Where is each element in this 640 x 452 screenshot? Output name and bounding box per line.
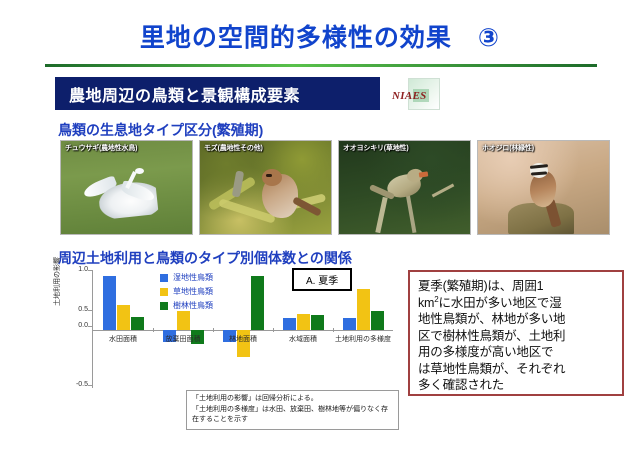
chart-bar	[371, 311, 384, 330]
bird-photo-shrike: モズ(農地性その他)	[199, 140, 332, 235]
slide-canvas: 里地の空間的多様性の効果 ③ 農地周辺の鳥類と景観構成要素 NIAES 鳥類の生…	[0, 0, 640, 452]
section-banner: 農地周辺の鳥類と景観構成要素	[55, 77, 380, 110]
chart-bar	[131, 317, 144, 330]
chart-x-tick	[153, 328, 154, 332]
bird-photo-bunting: ホオジロ(林縁性)	[477, 140, 610, 235]
chart-group-1: 水田面積	[93, 270, 153, 388]
legend-swatch-icon	[160, 302, 168, 310]
shrike-head	[262, 169, 282, 186]
bird-photo-reed-warbler: オオヨシキリ(草地性)	[338, 140, 471, 235]
chart-legend: 湿地性鳥類 草地性鳥類 樹林性鳥類	[160, 272, 213, 314]
callout-km: km	[418, 296, 434, 310]
chart-bar	[357, 289, 370, 330]
chart-bar	[343, 318, 356, 330]
legend-item-grassland: 草地性鳥類	[160, 286, 213, 297]
callout-text: 夏季(繁殖期)は、周囲1 km2に水田が多い地区で湿 地性鳥類が、林地が多い地 …	[418, 278, 614, 394]
shrike-eye-stripe	[266, 174, 272, 177]
chart-x-tick	[213, 328, 214, 332]
callout-line: 地性鳥類が、林地が多い地	[418, 311, 614, 328]
legend-swatch-icon	[160, 274, 168, 282]
niaes-logo: NIAES	[392, 78, 440, 112]
legend-label: 草地性鳥類	[173, 286, 213, 297]
banner-label: 農地周辺の鳥類と景観構成要素	[69, 82, 300, 106]
chart-bar	[117, 305, 130, 330]
legend-item-forest: 樹林性鳥類	[160, 300, 213, 311]
bird-photo-egret: チュウサギ(農地性水鳥)	[60, 140, 193, 235]
chart-group-3: 林地面積	[213, 270, 273, 388]
bird-photo-strip: チュウサギ(農地性水鳥) モズ(農地性その他) オオヨシキリ(草地性)	[60, 140, 622, 235]
photo-caption: オオヨシキリ(草地性)	[343, 143, 408, 153]
chart-heading: 周辺土地利用と鳥類のタイプ別個体数との関係	[58, 248, 352, 268]
bar-chart: 土地利用の影響 1.0 0.5 0.0 -0.5 水田面積放棄田面積林地面積水域…	[56, 266, 401, 394]
photo-caption: ホオジロ(林縁性)	[482, 143, 534, 153]
callout-line: 用の多様度が高い地区で	[418, 344, 614, 361]
callout-line: 夏季(繁殖期)は、周囲1	[418, 278, 614, 295]
callout-line-rest: に水田が多い地区で湿	[439, 296, 562, 310]
chart-y-tick: 0.0	[62, 322, 88, 329]
page-title: 里地の空間的多様性の効果 ③	[0, 18, 640, 54]
legend-label: 樹林性鳥類	[173, 300, 213, 311]
photo-caption: モズ(農地性その他)	[204, 143, 263, 153]
chart-y-tick: 1.0	[62, 266, 88, 273]
chart-note-2: 「土地利用の多様度」は水田、放棄田、樹林地等が偏りなく存在することを示す	[192, 405, 393, 426]
chart-bar	[297, 314, 310, 330]
chart-note-1: 「土地利用の影響」は回帰分析による。	[192, 394, 393, 405]
legend-swatch-icon	[160, 288, 168, 296]
photos-heading: 鳥類の生息地タイプ区分(繁殖期)	[58, 120, 263, 140]
title-divider	[45, 64, 597, 67]
chart-y-tick: -0.5	[62, 381, 88, 388]
callout-line: は草地性鳥類が、それぞれ	[418, 361, 614, 378]
tree-stump	[508, 203, 574, 235]
legend-label: 湿地性鳥類	[173, 272, 213, 283]
chart-bar	[311, 315, 324, 330]
chart-y-tick: 0.5	[62, 306, 88, 313]
chart-y-axis-label: 土地利用の影響	[52, 257, 62, 306]
callout-line: km2に水田が多い地区で湿	[418, 295, 614, 312]
chart-panel-title: A. 夏季	[292, 268, 352, 291]
callout-line: 多く確認された	[418, 377, 614, 394]
chart-bar	[283, 318, 296, 330]
callout-line: 区で樹林性鳥類が、土地利	[418, 328, 614, 345]
chart-bar	[103, 276, 116, 330]
legend-item-wetland: 湿地性鳥類	[160, 272, 213, 283]
egret-head	[135, 168, 144, 174]
chart-note-box: 「土地利用の影響」は回帰分析による。 「土地利用の多様度」は水田、放棄田、樹林地…	[186, 390, 399, 430]
niaes-wordmark: NIAES	[392, 90, 427, 102]
chart-bar	[251, 276, 264, 330]
chart-category-label: 土地利用の多様度	[323, 334, 403, 344]
chart-x-tick	[273, 328, 274, 332]
photo-caption: チュウサギ(農地性水鳥)	[65, 143, 137, 153]
chart-x-tick	[333, 328, 334, 332]
summary-callout: 夏季(繁殖期)は、周囲1 km2に水田が多い地区で湿 地性鳥類が、林地が多い地 …	[408, 270, 624, 396]
